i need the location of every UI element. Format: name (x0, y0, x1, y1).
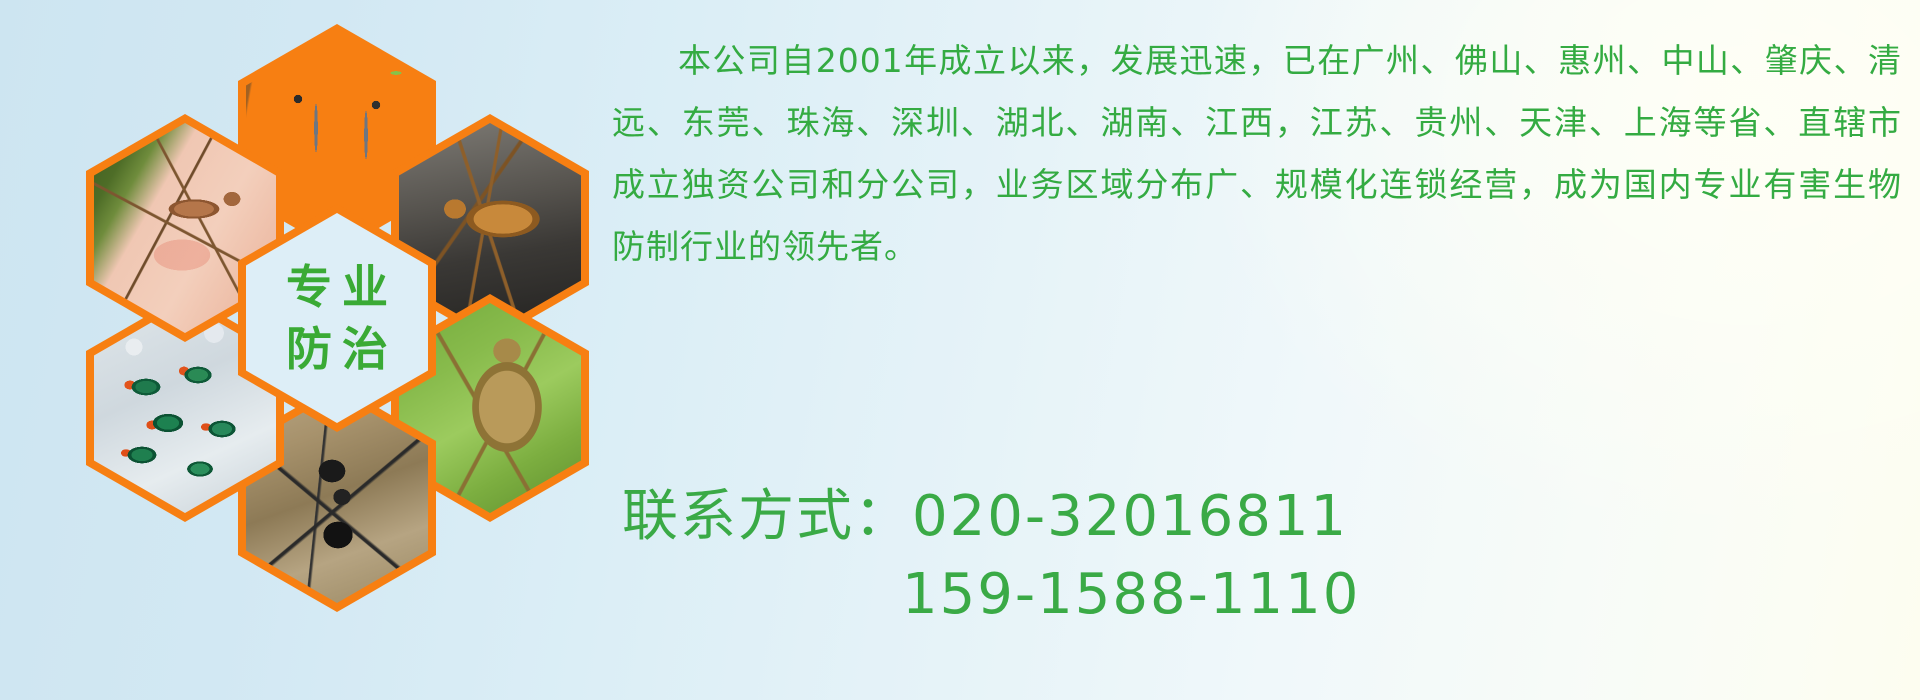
company-intro-paragraph: 本公司自2001年成立以来，发展迅速，已在广州、佛山、惠州、中山、肇庆、清远、东… (612, 30, 1902, 278)
logo-line-2: 防治 (276, 326, 398, 372)
contact-line-landline[interactable]: 联系方式：020-32016811 (622, 478, 1912, 556)
intro-copy-block: 本公司自2001年成立以来，发展迅速，已在广州、佛山、惠州、中山、肇庆、清远、东… (612, 30, 1902, 278)
promo-banner: 专业 防治 本公司自2001年成立以来，发展迅速，已在广州、佛山、惠州、中山、肇… (0, 0, 1920, 700)
contact-block: 联系方式：020-32016811 159-1588-1110 (622, 478, 1912, 634)
logo-line-1: 专业 (276, 264, 398, 310)
honeycomb-logo: 专业 防治 (86, 6, 586, 551)
contact-line-mobile[interactable]: 159-1588-1110 (622, 556, 1912, 634)
